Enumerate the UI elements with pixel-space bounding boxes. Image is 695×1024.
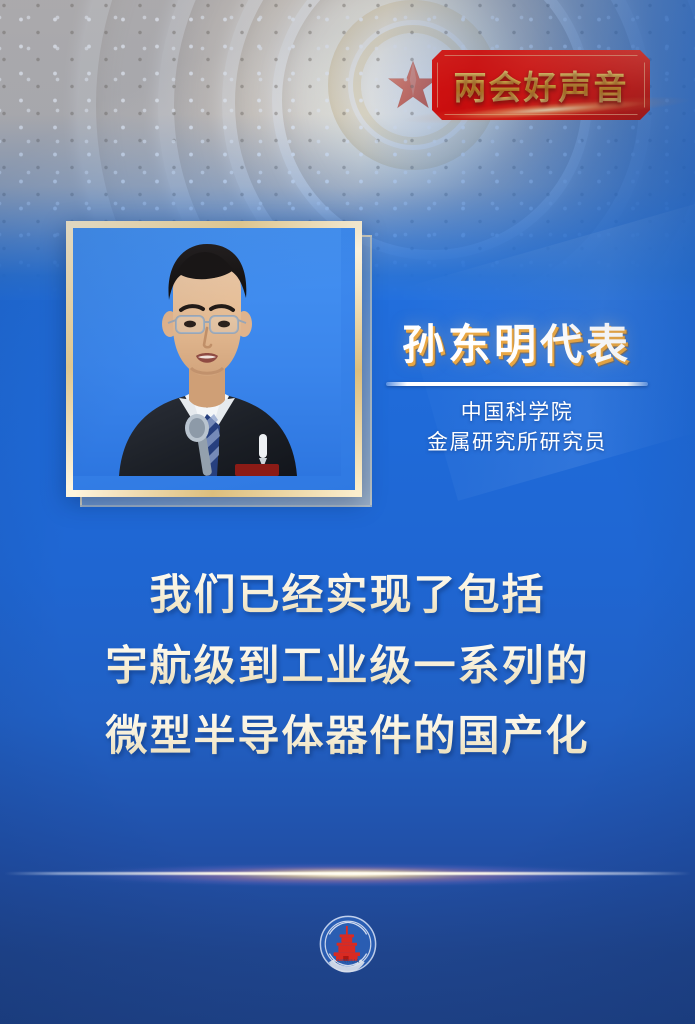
speaker-org-line-2: 金属研究所研究员 — [372, 428, 662, 458]
streak-core-line — [4, 872, 691, 875]
logo-wordmark: XINHUA — [336, 959, 360, 965]
quote-block: 我们已经实现了包括 宇航级到工业级一系列的 微型半导体器件的国产化 — [0, 560, 695, 772]
speaker-portrait-illustration — [73, 228, 341, 476]
portrait-photo — [73, 228, 355, 490]
quote-line-1: 我们已经实现了包括 — [0, 560, 695, 631]
name-divider — [386, 382, 648, 386]
program-badge: 两会好声音 — [432, 50, 650, 120]
quote-line-2: 宇航级到工业级一系列的 — [0, 631, 695, 702]
light-streak-divider — [0, 848, 695, 902]
speaker-info: 孙东明代表 中国科学院 金属研究所研究员 — [372, 318, 662, 459]
poster-root: 两会好声音 — [0, 0, 695, 1024]
badge-label: 两会好声音 — [432, 50, 650, 120]
speaker-organization: 中国科学院 金属研究所研究员 — [372, 398, 662, 459]
portrait-frame — [66, 221, 354, 489]
xinhua-logo: XINHUA — [318, 914, 378, 974]
quote-line-3: 微型半导体器件的国产化 — [0, 701, 695, 772]
speaker-name: 孙东明代表 — [372, 318, 662, 372]
portrait-frame-gold-border — [66, 221, 362, 497]
speaker-org-line-1: 中国科学院 — [372, 398, 662, 428]
xinhua-news-agency-logo-icon: XINHUA — [318, 914, 378, 974]
